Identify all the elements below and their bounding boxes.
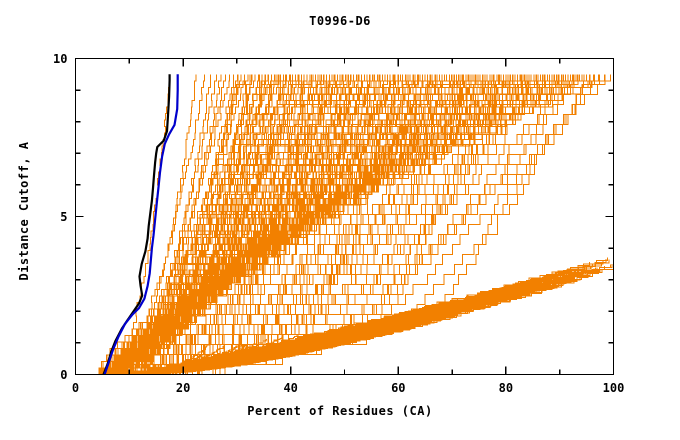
chart-title: T0996-D6 (0, 14, 680, 28)
x-tick-label: 20 (176, 381, 190, 395)
x-axis-label: Percent of Residues (CA) (0, 404, 680, 418)
x-tick-label: 100 (603, 381, 625, 395)
x-tick-label: 80 (499, 381, 513, 395)
x-tick-label: 40 (283, 381, 297, 395)
y-tick-label: 5 (0, 210, 68, 224)
plot-canvas (0, 0, 680, 440)
chart-figure: T0996-D6 Distance Cutoff, A Percent of R… (0, 0, 680, 440)
y-tick-label: 0 (0, 368, 68, 382)
x-tick-label: 0 (72, 381, 79, 395)
y-tick-label: 10 (0, 52, 68, 66)
x-tick-label: 60 (391, 381, 405, 395)
